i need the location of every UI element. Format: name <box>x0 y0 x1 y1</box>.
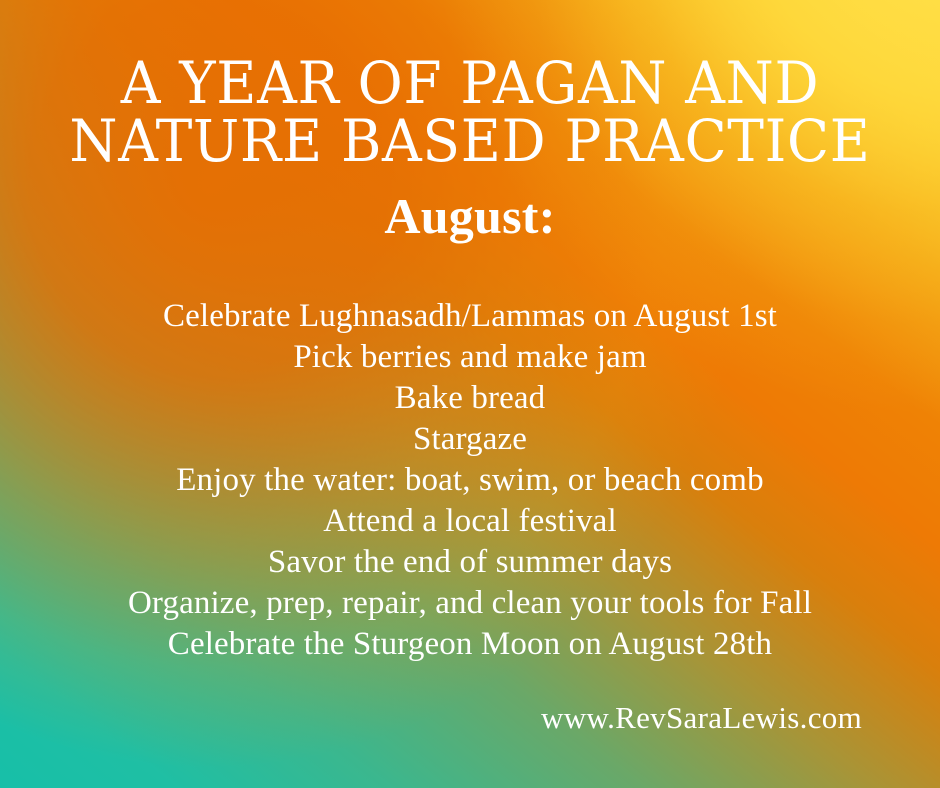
list-item: Savor the end of summer days <box>0 542 940 583</box>
poster-title: A Year of Pagan and Nature Based Practic… <box>0 0 940 168</box>
website-url[interactable]: www.RevSaraLewis.com <box>541 700 862 735</box>
list-item: Enjoy the water: boat, swim, or beach co… <box>0 460 940 501</box>
list-item: Celebrate Lughnasadh/Lammas on August 1s… <box>0 296 940 337</box>
footer: www.RevSaraLewis.com <box>0 699 940 737</box>
poster-content: A Year of Pagan and Nature Based Practic… <box>0 0 940 788</box>
title-line-2: Nature Based Practice <box>0 110 940 171</box>
list-item: Bake bread <box>0 378 940 419</box>
month-heading: August: <box>0 188 940 244</box>
poster-canvas: A Year of Pagan and Nature Based Practic… <box>0 0 940 788</box>
list-item: Celebrate the Sturgeon Moon on August 28… <box>0 624 940 665</box>
list-item: Organize, prep, repair, and clean your t… <box>0 583 940 624</box>
practice-list: Celebrate Lughnasadh/Lammas on August 1s… <box>0 296 940 665</box>
list-item: Attend a local festival <box>0 501 940 542</box>
title-line-1: A Year of Pagan and <box>0 52 940 113</box>
list-item: Pick berries and make jam <box>0 337 940 378</box>
list-item: Stargaze <box>0 419 940 460</box>
